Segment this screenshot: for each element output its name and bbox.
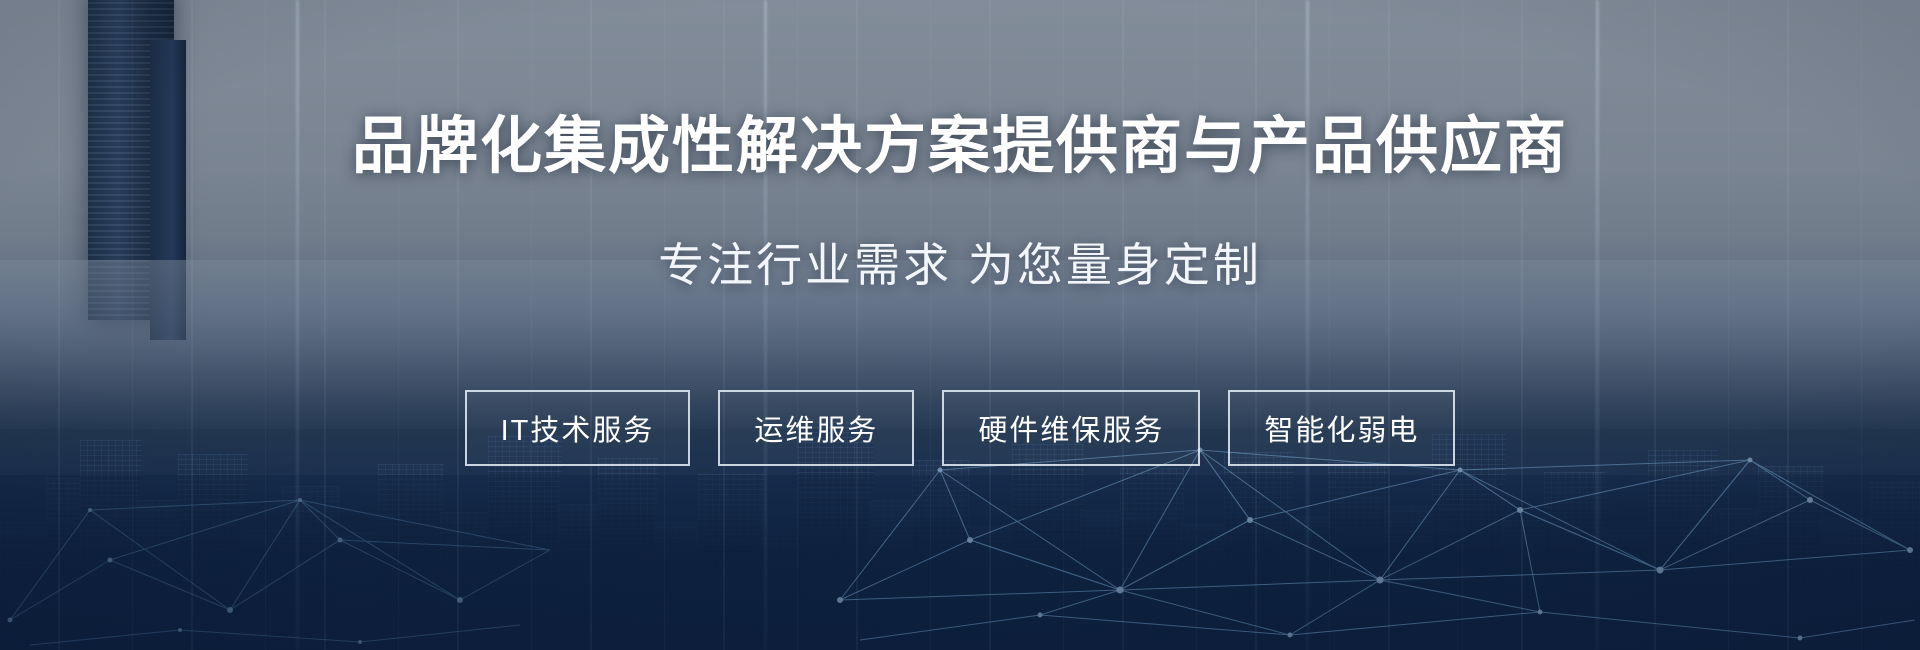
service-pill-intelligent-lowvoltage[interactable]: 智能化弱电	[1228, 390, 1455, 466]
hero-banner: 品牌化集成性解决方案提供商与产品供应商 专注行业需求 为您量身定制 IT技术服务…	[0, 0, 1920, 650]
page-title: 品牌化集成性解决方案提供商与产品供应商	[352, 112, 1568, 181]
service-pill-operations[interactable]: 运维服务	[718, 390, 914, 466]
service-pill-it-technical[interactable]: IT技术服务	[465, 390, 691, 466]
hero-content: 品牌化集成性解决方案提供商与产品供应商 专注行业需求 为您量身定制 IT技术服务…	[0, 0, 1920, 650]
service-pill-hardware-maintenance[interactable]: 硬件维保服务	[942, 390, 1200, 466]
service-pill-row: IT技术服务 运维服务 硬件维保服务 智能化弱电	[465, 390, 1456, 466]
page-subtitle: 专注行业需求 为您量身定制	[658, 239, 1262, 292]
